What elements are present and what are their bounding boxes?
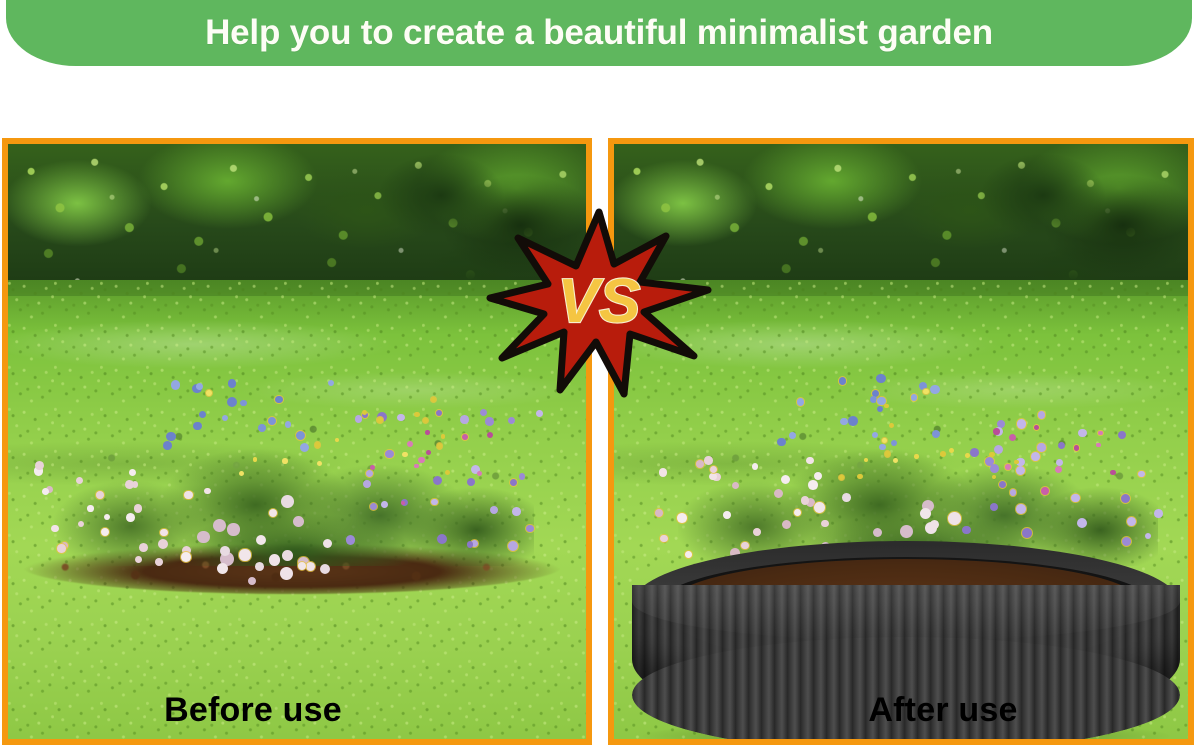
vs-text: VS [558, 267, 641, 336]
flower-bloom [536, 410, 543, 417]
flower-bloom [655, 509, 663, 517]
plant-foliage [54, 386, 534, 566]
flower-bloom [35, 461, 44, 470]
header-banner: Help you to create a beautiful minimalis… [6, 0, 1192, 66]
vs-badge-label: VS [558, 267, 641, 336]
flower-bloom [46, 486, 53, 493]
foliage-stem-texture [678, 386, 1158, 566]
flower-bloom [839, 377, 846, 384]
caption-before: Before use [8, 693, 586, 727]
product-comparison-image: Help you to create a beautiful minimalis… [0, 0, 1200, 749]
flower-bloom [42, 488, 49, 495]
header-title: Help you to create a beautiful minimalis… [205, 15, 993, 52]
flower-bloom [659, 468, 668, 477]
vs-badge: VS [488, 210, 710, 396]
caption-after: After use [614, 693, 1188, 727]
flower-bloom [876, 374, 886, 384]
plant-foliage [678, 386, 1158, 566]
flower-bloom [34, 466, 43, 475]
foliage-stem-texture [54, 386, 534, 566]
